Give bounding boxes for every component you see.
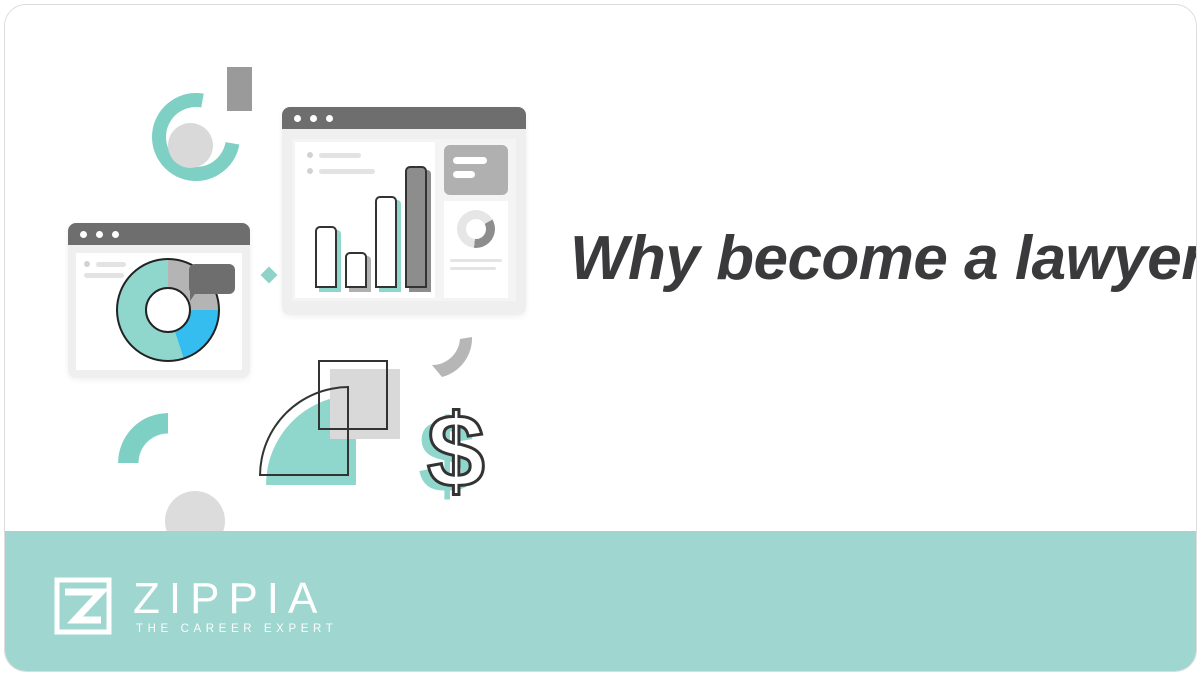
legend-row [307, 152, 361, 158]
footer-band: ZIPPIA THE CAREER EXPERT [5, 531, 1196, 671]
legend-bar [319, 153, 361, 158]
window-dot-icon [80, 231, 87, 238]
dollar-sign-icon: $ [427, 400, 485, 504]
window-dot-icon [294, 115, 301, 122]
bar-chart-panel [295, 142, 435, 298]
legend-bar [96, 262, 126, 267]
gray-circle-top-icon [168, 123, 213, 168]
donut-panel [444, 201, 508, 298]
teal-diamond-icon [261, 267, 278, 284]
bar-2 [345, 252, 367, 288]
legend-bar [84, 273, 124, 278]
card-line [453, 157, 487, 164]
dashboard-window-body [292, 139, 516, 301]
window-dot-icon [112, 231, 119, 238]
page-title: Why become a lawyer [570, 223, 1170, 294]
side-donut-chart [457, 210, 495, 248]
zippia-z-mark-icon [53, 576, 113, 636]
logo-word: ZIPPIA [133, 577, 337, 621]
bar-chart [311, 166, 429, 288]
window-dot-icon [326, 115, 333, 122]
dashboard-window-titlebar [282, 107, 526, 129]
window-dot-icon [96, 231, 103, 238]
dashboard-window [282, 107, 526, 315]
side-panel [439, 142, 513, 298]
panel-line [450, 259, 502, 262]
logo-tagline: THE CAREER EXPERT [136, 624, 337, 636]
gray-wedge-icon [430, 335, 474, 379]
chart-tooltip [189, 264, 235, 294]
donut-window-titlebar [68, 223, 250, 245]
legend-row [84, 273, 124, 278]
chart-tooltip-tail-icon [190, 291, 197, 301]
donut-window-body [76, 253, 242, 370]
panel-line [450, 267, 496, 270]
teal-quarter-arc-icon [118, 413, 168, 463]
gray-rectangle-top-icon [227, 67, 252, 111]
legend-dot-icon [84, 261, 90, 267]
card-line [453, 171, 475, 178]
gray-square-outline-icon [318, 360, 388, 430]
legend-dot-icon [307, 152, 313, 158]
bar-4 [405, 166, 427, 288]
text-card [444, 145, 508, 195]
window-dot-icon [310, 115, 317, 122]
donut-window [68, 223, 250, 378]
bar-1 [315, 226, 337, 288]
legend-row [84, 261, 126, 267]
promo-card: $ $ [4, 4, 1197, 672]
bar-3 [375, 196, 397, 288]
zippia-logo[interactable]: ZIPPIA THE CAREER EXPERT [53, 576, 337, 636]
zippia-wordmark: ZIPPIA THE CAREER EXPERT [133, 577, 337, 636]
